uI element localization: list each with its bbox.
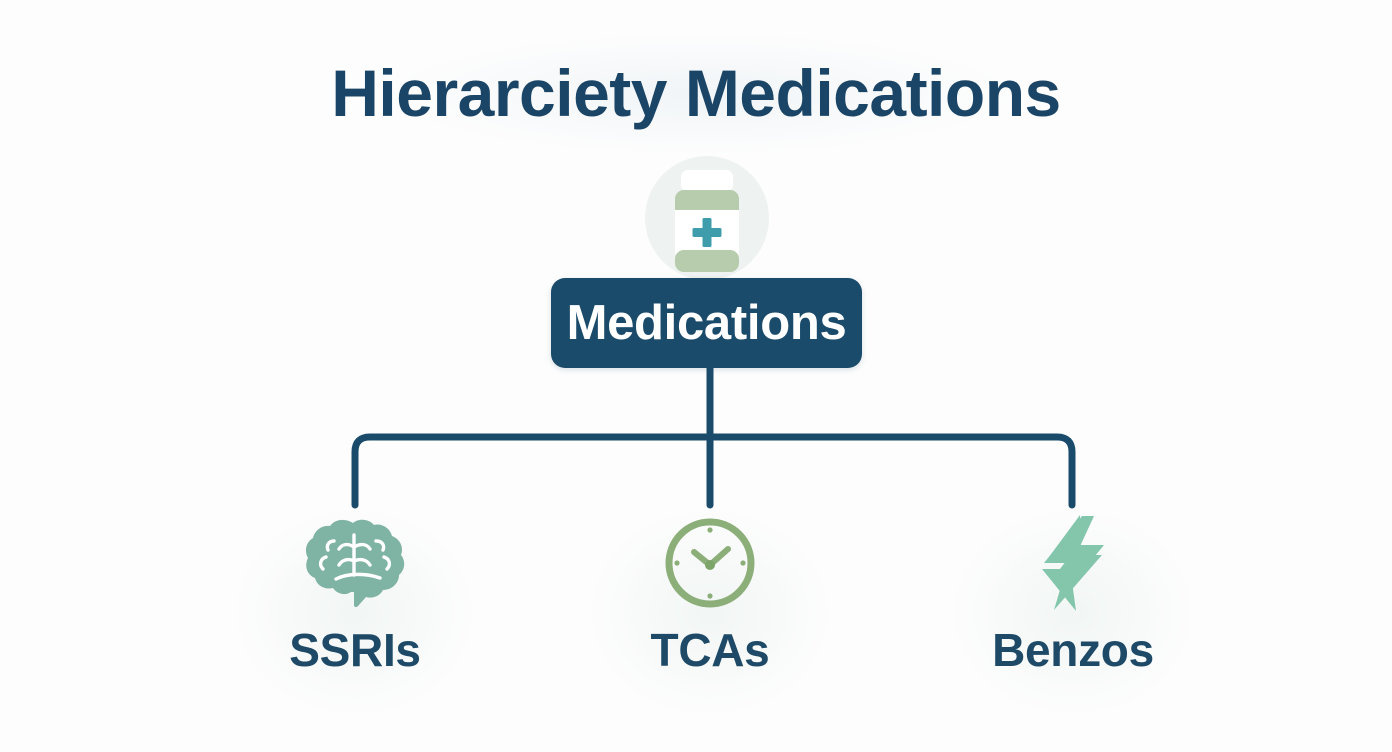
connector-branch-left bbox=[355, 437, 710, 505]
leaf-node-benzos[interactable]: Benzos bbox=[928, 505, 1218, 673]
root-node-medications[interactable]: Medications bbox=[551, 278, 862, 368]
clock-icon-wrap bbox=[663, 513, 757, 613]
leaf-node-tcas[interactable]: TCAs bbox=[565, 505, 855, 673]
pill-bottle-icon bbox=[667, 166, 747, 274]
diagram-canvas: Hierarciety Medications Medications bbox=[0, 0, 1392, 752]
leaf-label-ssris: SSRIs bbox=[289, 627, 420, 673]
leaf-label-benzos: Benzos bbox=[992, 627, 1154, 673]
page-title: Hierarciety Medications bbox=[0, 56, 1392, 132]
brain-icon-wrap bbox=[304, 513, 406, 613]
clock-icon bbox=[663, 516, 757, 610]
connector-branch-right bbox=[710, 437, 1072, 505]
lightning-bolt-icon bbox=[1042, 515, 1104, 611]
root-node-label: Medications bbox=[567, 299, 847, 348]
root-icon bbox=[645, 156, 769, 280]
lightning-bolt-icon-wrap bbox=[1042, 513, 1104, 613]
leaf-label-tcas: TCAs bbox=[651, 627, 770, 673]
leaf-node-ssris[interactable]: SSRIs bbox=[210, 505, 500, 673]
brain-icon bbox=[304, 517, 406, 609]
